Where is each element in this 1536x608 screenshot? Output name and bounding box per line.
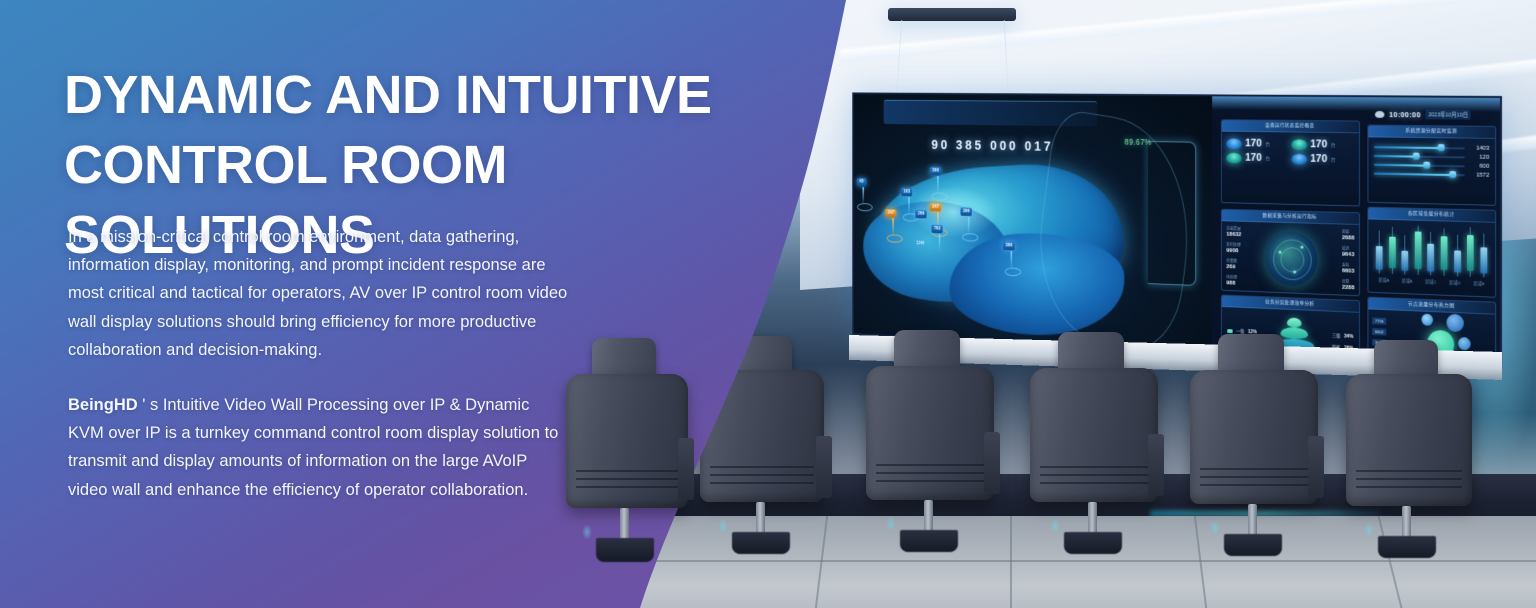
kpi-item: 170 台 <box>1291 138 1354 151</box>
map-bracket-overlay <box>1148 141 1196 286</box>
brand-name: BeingHD <box>68 396 138 414</box>
title-line-1: DYNAMIC AND INTUITIVE <box>64 60 824 130</box>
radar-globe-icon <box>1266 231 1317 287</box>
radar-right-metrics: 带宽2688 延迟9643 丢包6603 负载2288 <box>1342 229 1354 291</box>
bar-chart <box>1368 219 1495 281</box>
map-marker[interactable]: 366 <box>854 94 1212 96</box>
video-wall[interactable]: 90 385 000 017 89.67% 45 366 1 <box>852 92 1502 368</box>
dome-green-icon <box>1226 152 1241 163</box>
videowall-clock: 10:00:00 2023年10月10日 <box>1375 109 1471 120</box>
panel-resource-sliders[interactable]: 系统资源分配实时监测 1403 120 600 <box>1367 125 1496 206</box>
hero-banner: 90 385 000 017 89.67% 45 366 1 <box>0 0 1536 608</box>
map-marker[interactable]: 45 <box>854 94 1212 96</box>
map-marker[interactable]: 763 <box>854 94 1212 96</box>
map-visualization: 90 385 000 017 89.67% 45 366 1 <box>854 94 1212 351</box>
slider-row[interactable]: 1572 <box>1368 169 1495 180</box>
hero-paragraph-2: BeingHD ' s Intuitive Video Wall Process… <box>68 391 568 505</box>
dome-blue-icon <box>1226 138 1241 149</box>
map-marker[interactable]: 1246 <box>854 94 1212 96</box>
kpi-item: 170 台 <box>1226 152 1288 165</box>
map-marker[interactable]: 266 <box>854 94 1212 96</box>
map-counter: 90 385 000 017 <box>931 138 1053 154</box>
map-marker[interactable]: 366 <box>854 94 1212 96</box>
map-marker[interactable]: 347 <box>854 94 1212 96</box>
kpi-item: 170 台 <box>1226 137 1288 149</box>
panel-region-bars[interactable]: 各区域负载分布统计 区域A 区域B 区域C 区域D <box>1367 207 1496 298</box>
radar-left-metrics: 总采集量18632 实时处理9908 告警数269 待处理988 <box>1226 226 1241 287</box>
hero-paragraph-2-rest: ' s Intuitive Video Wall Processing over… <box>68 396 558 499</box>
floor <box>520 516 1536 608</box>
dome-green-icon <box>1291 139 1307 150</box>
kpi-item: 170 台 <box>1291 153 1354 166</box>
map-marker[interactable]: 163 <box>854 94 1212 96</box>
cloud-icon <box>1375 110 1384 117</box>
map-marker[interactable]: 366 <box>854 94 1212 96</box>
map-marker[interactable]: 347 <box>854 94 1212 96</box>
ceiling-light-icon <box>888 8 1016 21</box>
panel-radar-metrics[interactable]: 数据采集与分析运行指标 总采集量18632 实时处理9908 告警数269 待处… <box>1221 209 1360 297</box>
dome-blue-icon <box>1291 153 1307 164</box>
panel-device-kpi[interactable]: 设备运行状态监控概览 170 台 170 台 170 <box>1221 119 1360 206</box>
hero-paragraph-1: In a mission-critical control room envir… <box>68 223 568 365</box>
